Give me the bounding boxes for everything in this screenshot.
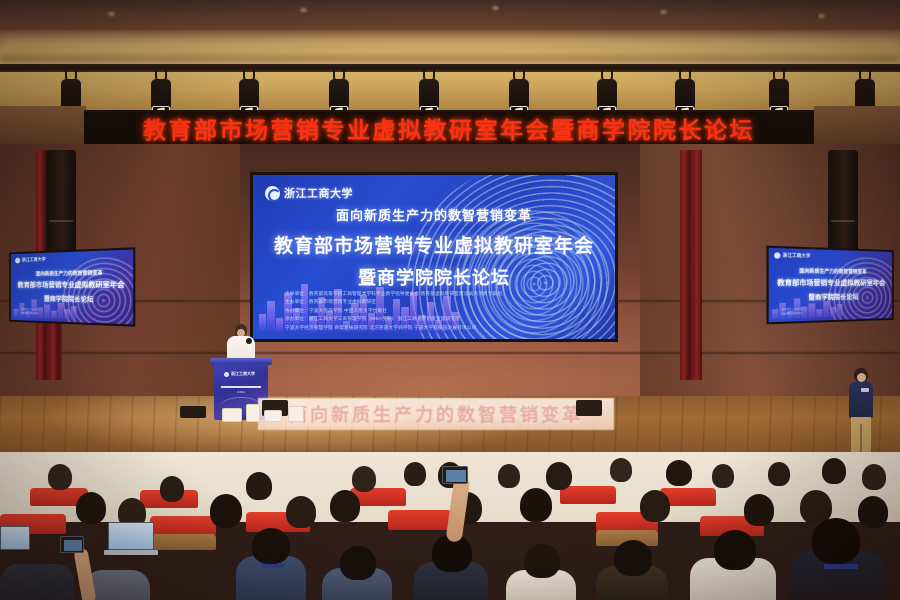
apron-box	[264, 410, 282, 422]
staff-badge	[861, 388, 869, 392]
event-title-line2: 暨商学院院长论坛	[769, 291, 892, 302]
laptop-screen[interactable]	[0, 526, 30, 550]
audience-torso	[0, 564, 74, 600]
university-emblem-icon	[265, 186, 280, 201]
audience-head	[160, 476, 184, 502]
university-emblem-icon	[224, 372, 229, 377]
audience-head	[744, 494, 774, 526]
podium-logo: 浙江工商大学	[224, 371, 255, 377]
audience-head	[524, 544, 560, 578]
microphone-icon	[246, 338, 252, 344]
apron-box	[246, 404, 260, 422]
audience-head	[210, 494, 242, 528]
audience-head	[520, 488, 552, 522]
audience-head	[768, 462, 790, 486]
stage-front-led: 面向新质生产力的数智营销变革	[258, 398, 614, 430]
university-logo: 浙江工商大学	[15, 257, 46, 264]
audience-head	[666, 460, 692, 486]
seat-frame	[150, 534, 216, 550]
phone-camera-icon[interactable]	[442, 466, 468, 484]
main-led-screen: 浙江工商大学 面向新质生产力的数智营销变革 教育部市场营销专业虚拟教研室年会 暨…	[250, 172, 618, 342]
auditorium-scene: 教育部市场营销专业虚拟教研室年会暨商学院院长论坛 浙江工商大学 面向新质生产力的…	[0, 0, 900, 600]
audience-head	[712, 464, 734, 488]
university-logo: 浙江工商大学	[774, 252, 810, 259]
university-emblem-icon	[774, 252, 780, 258]
event-title-line1: 教育部市场营销专业虚拟教研室年会	[253, 231, 615, 258]
main-screen-titles: 面向新质生产力的数智营销变革 教育部市场营销专业虚拟教研室年会 暨商学院院长论坛	[253, 205, 615, 290]
ceiling-downlight-icon	[660, 10, 667, 14]
event-subtitle: 面向新质生产力的数智营销变革	[253, 205, 615, 224]
lanyard	[824, 564, 858, 569]
event-subtitle: 面向新质生产力的数智营销变革	[11, 269, 133, 278]
organizer-credits: 指导单位：教育部高等学校工商管理类学科专业教学指导委员会 教育部虚拟教研室建设试…	[285, 290, 589, 332]
laptop-screen[interactable]	[108, 522, 154, 550]
university-wordmark: 浙江工商大学	[783, 252, 811, 259]
apron-equipment-case	[180, 406, 206, 418]
side-screen-titles-left: 面向新质生产力的数智营销变革 教育部市场营销专业虚拟教研室年会 暨商学院院长论坛	[11, 269, 133, 304]
audience-head	[610, 458, 632, 482]
audience-head	[76, 492, 106, 524]
event-subtitle: 面向新质生产力的数智营销变革	[769, 267, 892, 276]
credit-line: 承办单位：浙江工商大学工商管理学院（MBA学院） 浙江工商大学智能管理研究院	[285, 315, 589, 323]
audience-head	[252, 528, 290, 564]
led-banner: 教育部市场营销专业虚拟教研室年会暨商学院院长论坛	[84, 110, 814, 146]
audience-head	[546, 462, 572, 490]
stage-curtain-right	[680, 150, 702, 380]
lanyard	[262, 564, 284, 568]
audience-head	[858, 496, 888, 528]
audience-head	[862, 464, 886, 490]
audience-head	[330, 490, 360, 522]
university-wordmark: 浙江工商大学	[284, 185, 353, 201]
seat-back	[388, 510, 452, 530]
laptop-base	[104, 550, 158, 555]
audience-head	[286, 496, 316, 528]
university-logo: 浙江工商大学	[265, 185, 353, 201]
ceiling-downlight-icon	[492, 6, 499, 10]
staff-face	[857, 373, 866, 382]
side-led-screen-left: 浙江工商大学 面向新质生产力的数智营销变革 教育部市场营销专业虚拟教研室年会 暨…	[9, 247, 135, 326]
audience-head	[714, 530, 756, 570]
ceiling-downlight-icon	[300, 8, 307, 12]
audience-head	[340, 546, 376, 580]
audience-head	[614, 540, 652, 576]
audience-head	[352, 466, 376, 492]
credit-line: 指导单位：教育部高等学校工商管理类学科专业教学指导委员会 教育部虚拟教研室建设试…	[285, 290, 589, 298]
led-banner-text: 教育部市场营销专业虚拟教研室年会暨商学院院长论坛	[143, 111, 755, 145]
side-led-screen-right: 浙江工商大学 面向新质生产力的数智营销变革 教育部市场营销专业虚拟教研室年会 暨…	[766, 246, 893, 325]
front-led-end-right	[576, 400, 602, 416]
audience-head	[404, 462, 426, 486]
credit-line: 主办单位：教育部市场营销专业虚拟教研室	[285, 298, 589, 306]
audience-head	[48, 464, 72, 490]
audience-area	[0, 452, 900, 600]
phone-camera-icon[interactable]	[60, 536, 84, 553]
ceiling-downlight-icon	[108, 12, 115, 16]
university-wordmark: 浙江工商大学	[22, 257, 46, 263]
side-screen-titles-right: 面向新质生产力的数智营销变革 教育部市场营销专业虚拟教研室年会 暨商学院院长论坛	[769, 267, 892, 302]
podium-wordmark: 浙江工商大学	[231, 371, 255, 377]
apron-box	[288, 406, 304, 422]
lighting-truss	[0, 64, 900, 72]
event-title-line2: 暨商学院院长论坛	[253, 264, 615, 290]
credit-line: 协办单位：宁波大学商学院 中国人民大学出版社	[285, 307, 589, 315]
audience-head	[822, 458, 846, 484]
organizer-credits: 指导单位 主办单位 协办单位 承办单位	[21, 308, 124, 320]
audience-head	[812, 518, 860, 564]
audience-head	[498, 464, 520, 488]
seat-back	[150, 516, 216, 536]
ceiling-downlight-icon	[818, 14, 825, 18]
credit-line: 宁波大学经济管理学院 商帮发展研究院 北方民族大学商学院 宁波大学科技园发展有限…	[285, 324, 589, 332]
podium-subtext: ZJSU	[221, 390, 261, 394]
podium-divider	[221, 386, 261, 388]
seat-back	[560, 486, 616, 504]
university-emblem-icon	[15, 258, 20, 264]
event-title-line1: 教育部市场营销专业虚拟教研室年会	[769, 278, 892, 289]
stage-front-led-text: 面向新质生产力的数智营销变革	[289, 401, 583, 427]
apron-box	[222, 408, 242, 422]
audience-head	[640, 490, 670, 522]
event-title-line1: 教育部市场营销专业虚拟教研室年会	[11, 280, 133, 291]
audience-head	[246, 472, 272, 500]
wall-seam	[0, 352, 900, 354]
